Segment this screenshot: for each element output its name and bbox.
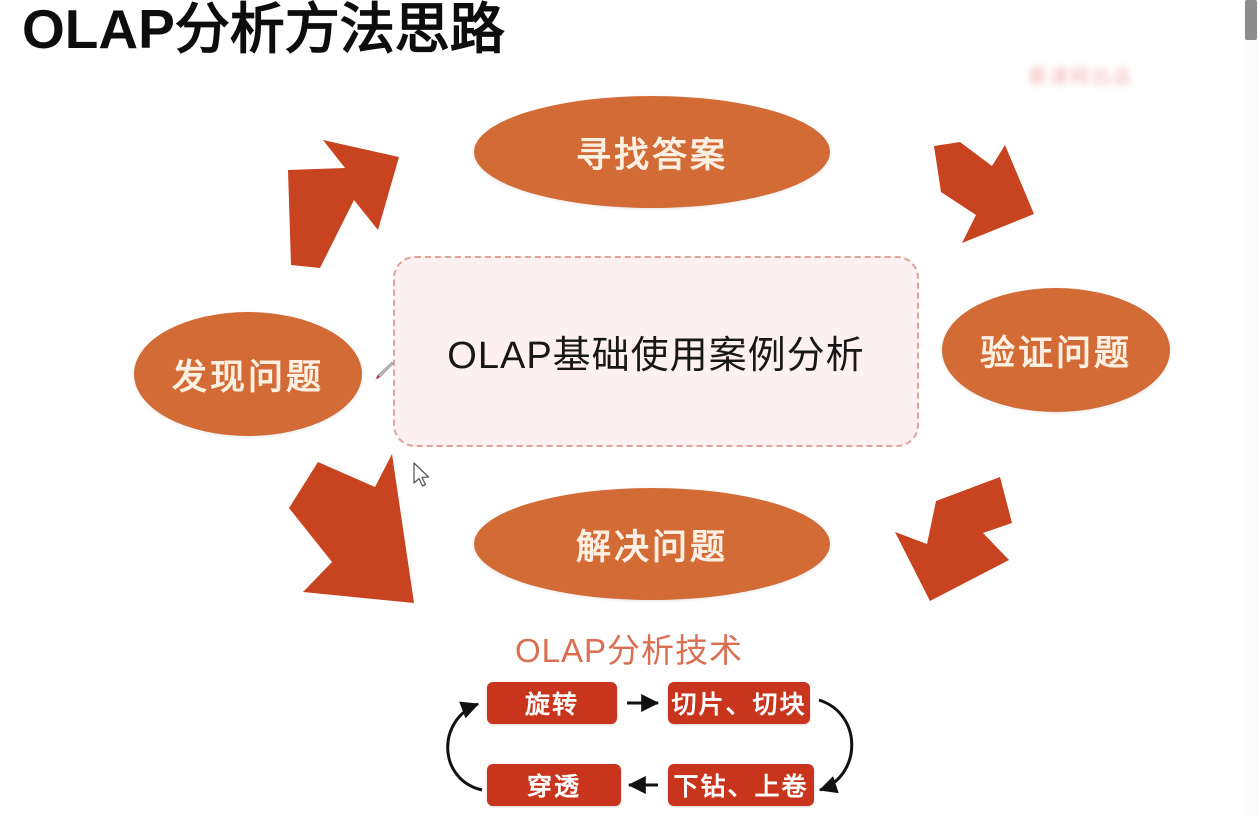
mouse-arrow-cursor-icon bbox=[412, 462, 432, 490]
tech-box-rotate-label: 旋转 bbox=[525, 685, 579, 721]
cycle-node-top[interactable]: 寻找答案 bbox=[474, 96, 830, 208]
cycle-node-top-label: 寻找答案 bbox=[576, 127, 728, 178]
page-title: OLAP分析方法思路 bbox=[22, 0, 505, 62]
watermark-text: 慕课网出品 bbox=[1028, 62, 1178, 88]
tech-box-slice-dice[interactable]: 切片、切块 bbox=[668, 682, 810, 724]
arrow-down-right bbox=[934, 142, 1034, 243]
cycle-node-bottom[interactable]: 解决问题 bbox=[474, 488, 830, 600]
tech-box-drill-rollup[interactable]: 下钻、上卷 bbox=[668, 764, 814, 806]
arrow-up-left-lower bbox=[289, 454, 414, 603]
tech-box-drillthrough-label: 穿透 bbox=[527, 767, 581, 803]
tech-box-slice-dice-label: 切片、切块 bbox=[671, 685, 806, 721]
center-case-card[interactable]: OLAP基础使用案例分析 bbox=[393, 256, 919, 447]
olap-tech-title: OLAP分析技术 bbox=[0, 624, 1258, 672]
arrow-up-left bbox=[288, 140, 399, 268]
cycle-node-bottom-label: 解决问题 bbox=[576, 519, 728, 570]
cycle-node-left[interactable]: 发现问题 bbox=[134, 312, 362, 436]
pen-annotation-pointer-icon bbox=[373, 360, 395, 382]
tech-box-drillthrough[interactable]: 穿透 bbox=[487, 764, 621, 806]
tech-box-drill-rollup-label: 下钻、上卷 bbox=[673, 767, 808, 803]
olap-tech-diagram: 旋转 切片、切块 穿透 下钻、上卷 bbox=[430, 676, 870, 812]
center-case-label: OLAP基础使用案例分析 bbox=[447, 324, 864, 379]
tech-box-rotate[interactable]: 旋转 bbox=[487, 682, 617, 724]
slide-canvas: OLAP分析方法思路 慕课网出品 寻找答案 验证问题 解决问题 发现问题 OLA… bbox=[0, 0, 1258, 816]
cycle-node-right[interactable]: 验证问题 bbox=[942, 288, 1170, 412]
connector-right-curve bbox=[819, 700, 852, 790]
connector-left-curve bbox=[448, 704, 482, 790]
cycle-node-right-label: 验证问题 bbox=[980, 325, 1132, 376]
arrow-down-left bbox=[895, 477, 1012, 601]
vertical-scrollbar-thumb[interactable] bbox=[1245, 0, 1257, 40]
cycle-node-left-label: 发现问题 bbox=[172, 349, 324, 400]
vertical-scrollbar-track[interactable] bbox=[1244, 0, 1258, 816]
